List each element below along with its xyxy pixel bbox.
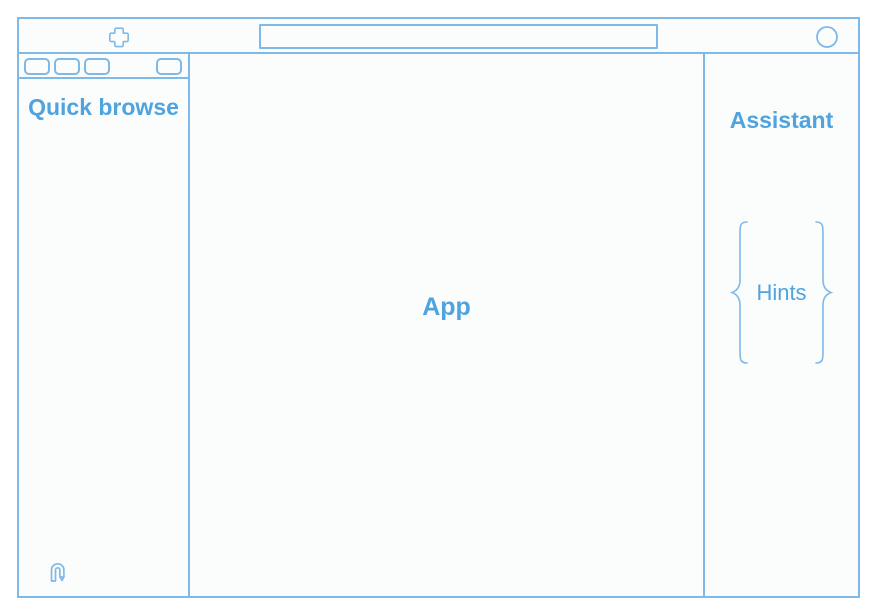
avatar-button[interactable] [814,24,840,50]
assistant-title: Assistant [705,107,858,134]
top-bar [19,19,858,54]
tab-chip-1[interactable] [24,58,50,75]
browser-wireframe-frame: Quick browse App Assistant Hints [17,17,860,598]
hints-close-brace-icon [811,220,835,365]
new-tab-button[interactable] [97,22,141,51]
quick-browse-title: Quick browse [19,92,188,122]
tab-chip-4[interactable] [156,58,182,75]
app-placeholder-label: App [422,293,471,322]
app-content-panel[interactable]: App [190,54,703,596]
circle-avatar-icon [815,25,839,49]
tab-chip-2[interactable] [54,58,80,75]
u-turn-arrow-icon [44,558,74,586]
plus-icon [107,25,131,49]
address-search-input[interactable] [259,24,658,49]
hints-label: Hints [752,280,810,306]
sidebar-back-action-button[interactable] [41,556,77,588]
hints-block: Hints [705,220,858,365]
sidebar-tab-strip [19,54,188,79]
assistant-panel: Assistant Hints [703,54,858,596]
tab-chip-3[interactable] [84,58,110,75]
hints-open-brace-icon [728,220,752,365]
quick-browse-sidebar: Quick browse [19,54,190,596]
